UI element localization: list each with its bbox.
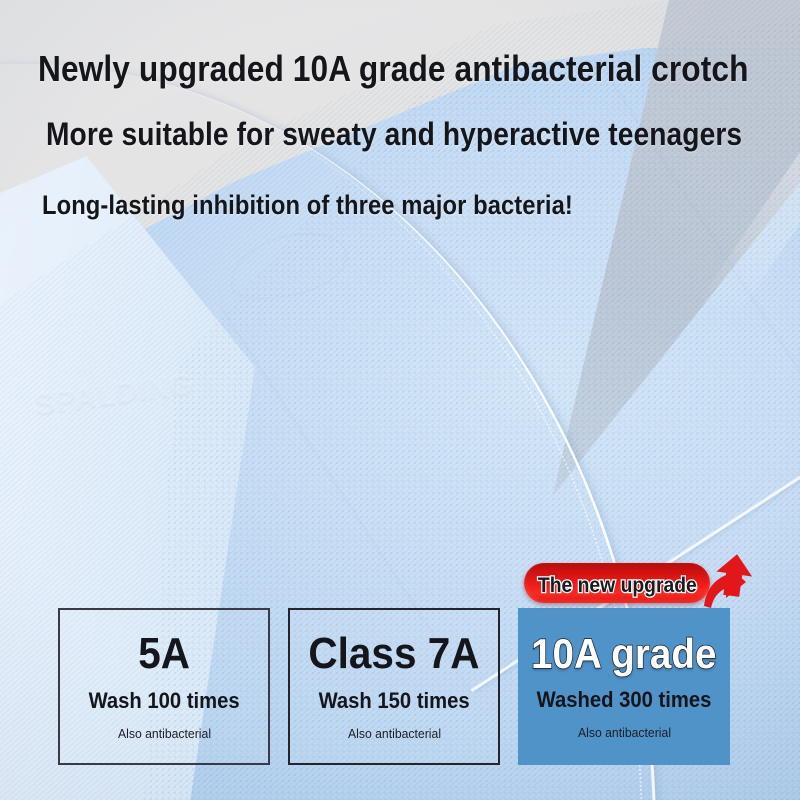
grade-card-10a: 10A grade Washed 300 times Also antibact… [518, 608, 730, 765]
grade-comparison-row: 5A Wash 100 times Also antibacterial Cla… [0, 0, 800, 800]
grade-card-title: 5A [138, 632, 190, 676]
grade-card-subtitle: Washed 300 times [537, 687, 712, 713]
grade-card-title: 10A grade [531, 633, 716, 675]
grade-card-note: Also antibacterial [347, 726, 440, 741]
curved-up-arrow-icon [700, 548, 758, 610]
grade-card-5a: 5A Wash 100 times Also antibacterial [58, 608, 270, 765]
grade-card-note: Also antibacterial [117, 726, 210, 741]
grade-card-note: Also antibacterial [577, 725, 670, 740]
new-upgrade-badge-label: The new upgrade [538, 574, 697, 598]
grade-card-subtitle: Wash 100 times [88, 688, 239, 714]
grade-card-7a: Class 7A Wash 150 times Also antibacteri… [288, 608, 500, 765]
grade-card-title: Class 7A [308, 632, 479, 676]
product-feature-banner: SPALDING Newly upgraded 10A grade antiba… [0, 0, 800, 800]
grade-card-subtitle: Wash 150 times [318, 688, 469, 714]
new-upgrade-badge: The new upgrade [524, 563, 710, 603]
